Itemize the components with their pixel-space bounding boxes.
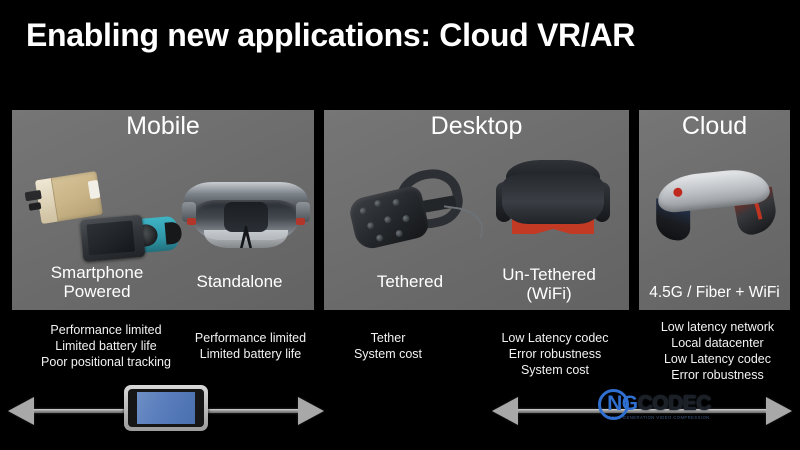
panel-title-desktop: Desktop xyxy=(324,112,629,141)
untethered-vr-headset-icon xyxy=(498,160,608,250)
arrow-right-icon xyxy=(766,397,792,425)
cloud-vr-visor-icon xyxy=(649,162,780,251)
logo-ring-icon xyxy=(598,389,629,420)
ar-visor-headset-icon xyxy=(180,178,312,264)
caption-tethered: Tethered xyxy=(340,272,480,292)
bullets-cloud: Low latency networkLocal datacenterLow L… xyxy=(640,319,795,383)
bullets-untethered: Low Latency codecError robustnessSystem … xyxy=(480,330,630,378)
ngcodec-logo: NGCODEC NEXT GENERATION VIDEO COMPRESSIO… xyxy=(596,386,722,426)
logo-brand-suffix: CODEC xyxy=(638,392,711,415)
page-title: Enabling new applications: Cloud VR/AR xyxy=(26,18,786,53)
bullets-tethered: TetherSystem cost xyxy=(318,330,458,362)
caption-smartphone-powered: SmartphonePowered xyxy=(22,263,172,302)
caption-untethered: Un-Tethered(WiFi) xyxy=(474,265,624,304)
logo-wordmark: NGCODEC xyxy=(607,393,711,414)
tethered-vr-headset-icon xyxy=(350,162,480,258)
arrow-left-icon xyxy=(492,397,518,425)
smartphone-graphic xyxy=(124,385,208,431)
panel-mobile: Mobile SmartphonePowered Standal xyxy=(12,110,314,310)
slide-canvas: Enabling new applications: Cloud VR/AR M… xyxy=(0,0,800,450)
bullets-standalone: Performance limitedLimited battery life xyxy=(168,330,333,362)
panel-cloud: Cloud 4.5G / Fiber + WiFi xyxy=(639,110,790,310)
arrow-right-icon xyxy=(298,397,324,425)
caption-standalone: Standalone xyxy=(172,272,307,292)
caption-cloud-network: 4.5G / Fiber + WiFi xyxy=(639,284,790,302)
arrow-left-icon xyxy=(8,397,34,425)
panel-title-cloud: Cloud xyxy=(639,112,790,141)
panel-title-mobile: Mobile xyxy=(12,112,314,141)
panel-desktop: Desktop Tethered Un-Tethere xyxy=(324,110,629,310)
